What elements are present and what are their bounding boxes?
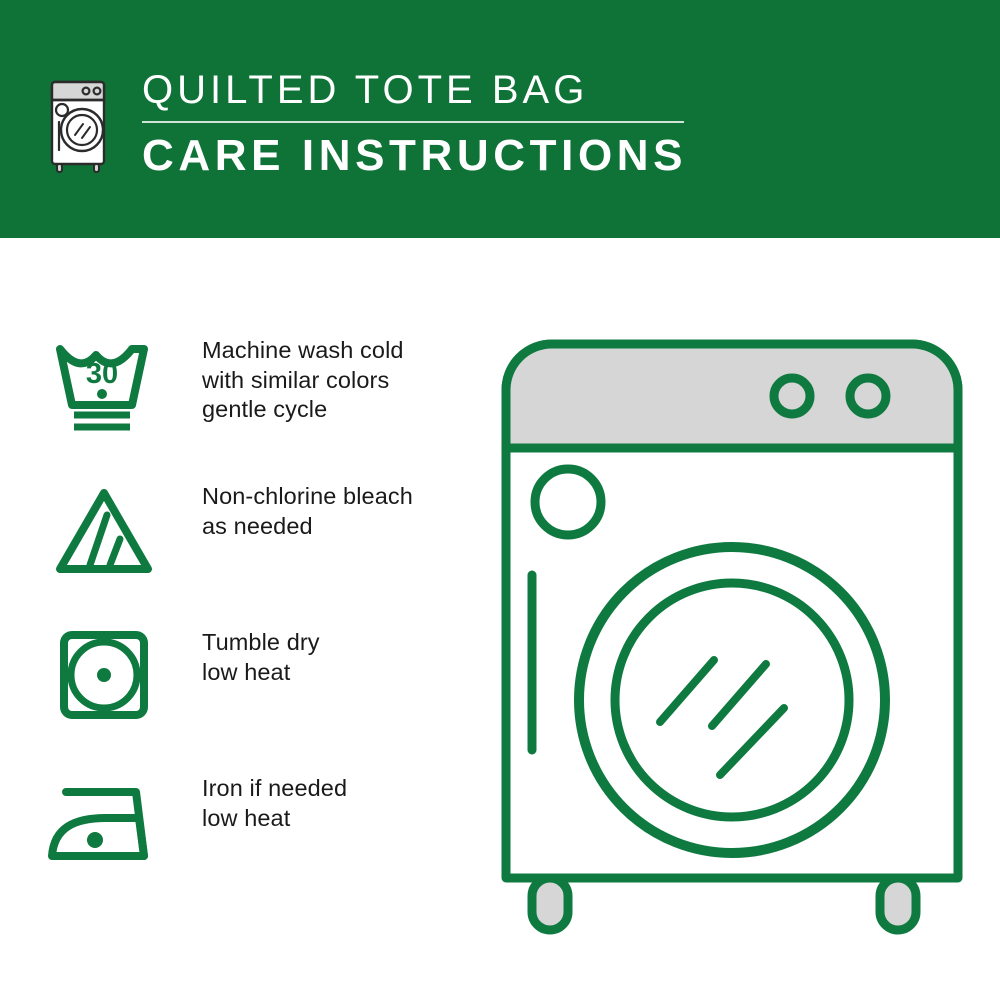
washer-leg-right: [880, 878, 916, 930]
care-line: with similar colors: [202, 366, 474, 396]
wash-temperature-label: 30: [86, 358, 118, 390]
bleach-triangle-icon: [44, 476, 164, 586]
care-line: Non-chlorine bleach: [202, 482, 474, 512]
care-item-iron-label: Iron if needed low heat: [164, 768, 474, 833]
washing-machine-icon: [44, 68, 112, 176]
care-item-bleach-label: Non-chlorine bleach as needed: [164, 476, 474, 541]
care-line: Tumble dry: [202, 628, 474, 658]
washing-machine-illustration: [492, 330, 972, 940]
page-title-product: QUILTED TOTE BAG: [142, 66, 842, 114]
care-line: Iron if needed: [202, 774, 474, 804]
wash-tub-icon: 30: [44, 330, 164, 440]
care-line: as needed: [202, 512, 474, 542]
title-divider: [142, 121, 684, 123]
care-line: gentle cycle: [202, 395, 474, 425]
header-banner: QUILTED TOTE BAG CARE INSTRUCTIONS: [0, 0, 1000, 238]
care-item-tumble-dry-label: Tumble dry low heat: [164, 622, 474, 687]
header-text-block: QUILTED TOTE BAG CARE INSTRUCTIONS: [142, 66, 842, 181]
care-instructions-page: QUILTED TOTE BAG CARE INSTRUCTIONS 30: [0, 0, 1000, 1000]
care-line: low heat: [202, 804, 474, 834]
care-line: low heat: [202, 658, 474, 688]
care-item-wash: 30 Machine wash cold with similar colors…: [44, 330, 474, 476]
care-item-iron: Iron if needed low heat: [44, 768, 474, 914]
iron-icon: [44, 768, 164, 878]
tumble-dry-icon: [44, 622, 164, 732]
washer-leg-left: [532, 878, 568, 930]
care-item-wash-label: Machine wash cold with similar colors ge…: [164, 330, 474, 425]
page-title-main: CARE INSTRUCTIONS: [142, 131, 842, 181]
care-line: Machine wash cold: [202, 336, 474, 366]
care-instruction-list: 30 Machine wash cold with similar colors…: [44, 330, 474, 914]
care-item-bleach: Non-chlorine bleach as needed: [44, 476, 474, 622]
care-item-tumble-dry: Tumble dry low heat: [44, 622, 474, 768]
